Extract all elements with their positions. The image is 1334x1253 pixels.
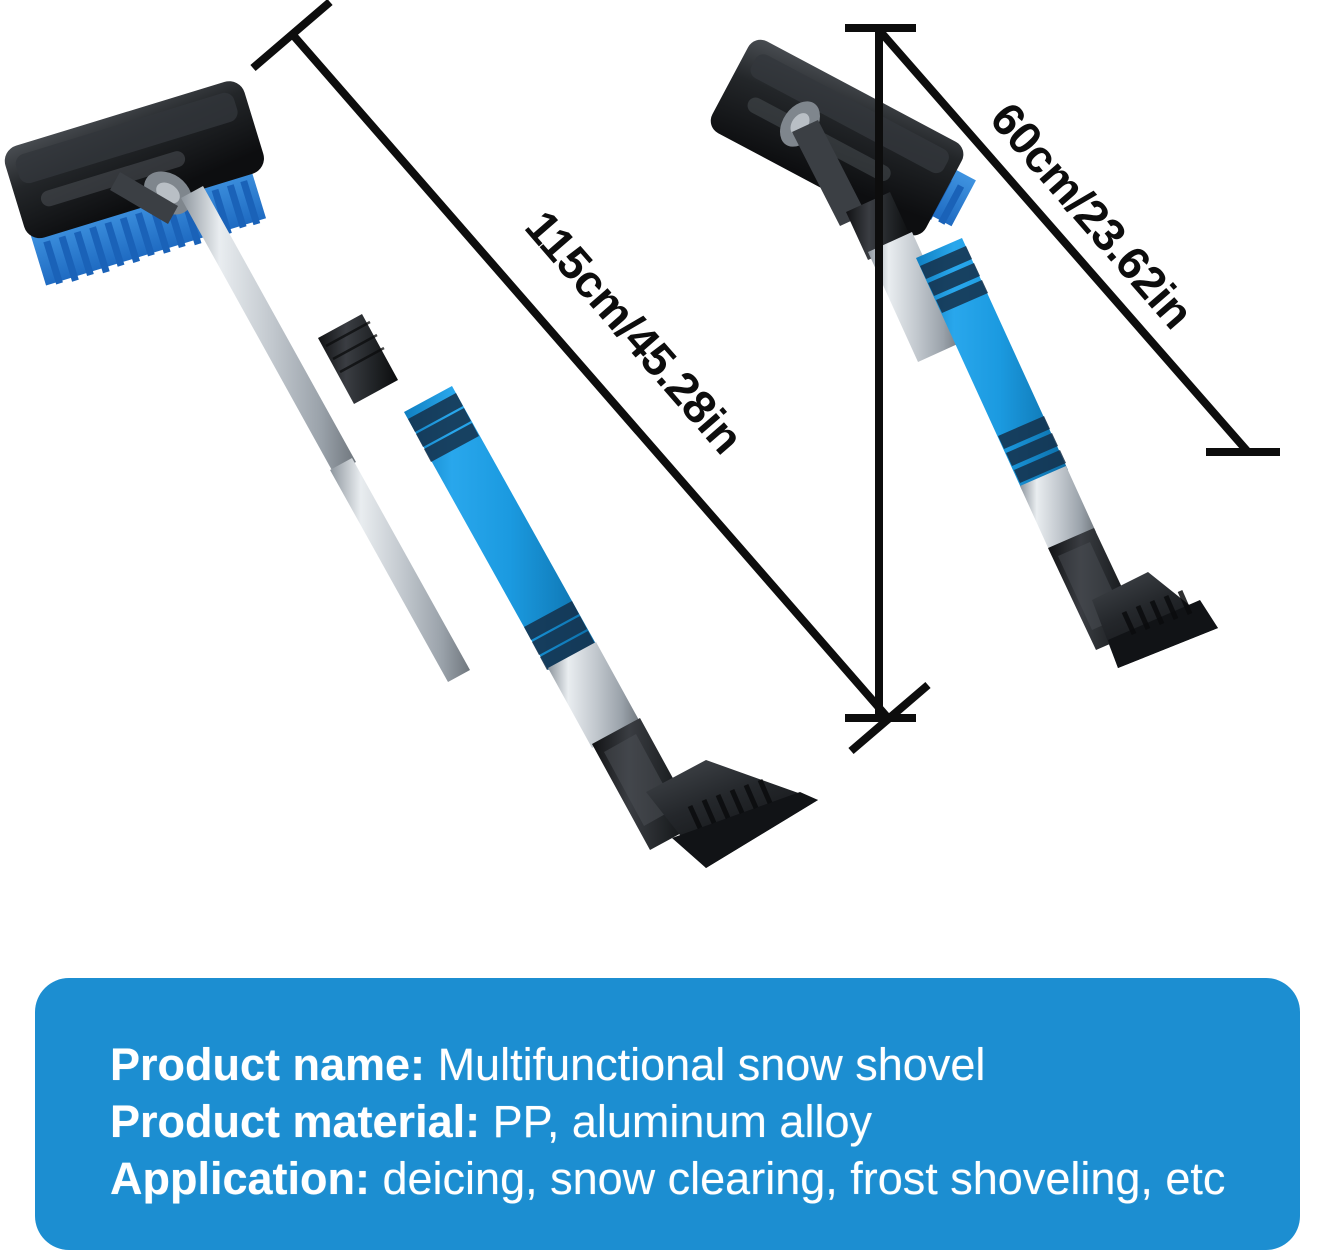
product-spec-panel: Product name: Multifunctional snow shove… [35, 978, 1300, 1250]
dimension-label-60cm: 60cm/23.62in [980, 92, 1203, 338]
spec-value-application: deicing, snow clearing, frost shoveling,… [383, 1153, 1226, 1204]
extended-snow-brush [1, 77, 818, 868]
dimension-cap-start [253, 2, 330, 68]
spec-value-product-name: Multifunctional snow shovel [438, 1039, 986, 1090]
spec-row-application: Application: deicing, snow clearing, fro… [110, 1150, 1300, 1207]
spec-value-product-material: PP, aluminum alloy [493, 1096, 872, 1147]
spec-label-product-name: Product name: [110, 1039, 425, 1090]
product-illustration-stage: 115cm/45.28in [0, 0, 1334, 970]
spec-row-product-name: Product name: Multifunctional snow shove… [110, 1036, 1300, 1093]
blue-foam-grip [916, 238, 1068, 490]
product-diagram: 115cm/45.28in [0, 0, 1334, 970]
spec-label-application: Application: [110, 1153, 370, 1204]
dimension-axis [879, 30, 1248, 452]
spec-row-product-material: Product material: PP, aluminum alloy [110, 1093, 1300, 1150]
spec-label-product-material: Product material: [110, 1096, 480, 1147]
twist-lock-collar [318, 314, 398, 404]
